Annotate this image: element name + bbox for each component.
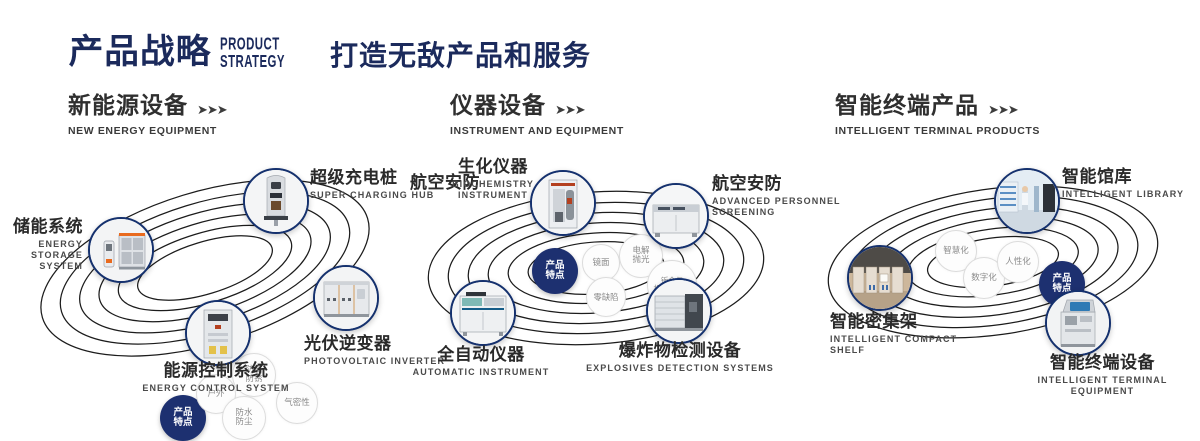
page-slogan: 打造无敌产品和服务 [330,34,591,74]
battery-cabinet-photo [90,219,152,281]
feature-bubble-core-line2: 特点 [545,271,564,281]
node-energy-storage-system[interactable] [88,217,154,283]
poster-canvas: 产品战略 PRODUCT STRATEGY 打造无敌产品和服务 新能源设备 ➤➤… [0,0,1200,422]
node-intelligent-compact-shelf[interactable] [847,245,913,311]
node-caption-en: AUTOMATIC INSTRUMENT [401,367,561,378]
feature-bubble-mirror-finish: 镜面 [582,244,620,282]
section-heading-instrument: 仪器设备 ➤➤➤ INSTRUMENT AND EQUIPMENT [450,95,624,137]
explosives-detector-photo [648,280,710,342]
node-caption-cn: 能源控制系统 [86,362,346,381]
section-heading-cn: 智能终端产品 [835,95,979,118]
chevron-triple-icon: ➤➤➤ [988,103,1018,118]
node-caption-intelligent-compact-shelf: 智能密集架 INTELLIGENT COMPACT SHELF [830,313,975,356]
node-explosives-detection[interactable] [646,278,712,344]
node-caption-automatic-instrument: 全自动仪器 AUTOMATIC INSTRUMENT [401,346,561,378]
feature-bubble-label: 人性化 [1005,258,1031,267]
section-heading-cn: 新能源设备 [68,95,188,118]
node-caption-en: EXPLOSIVES DETECTION SYSTEMS [585,363,775,374]
page-title-en-line1: PRODUCT [220,34,285,52]
smart-library-photo [996,170,1058,232]
inverter-cabinet-photo [315,267,377,329]
node-caption-cn: 全自动仪器 [401,346,561,365]
section-heading-en: INSTRUMENT AND EQUIPMENT [450,125,624,137]
page-title-cn: 产品战略 [69,35,212,69]
diagram-panel-intelligent-terminal: 智慧化 数字化 人性化 产品 特点 [800,150,1200,400]
section-heading-en: INTELLIGENT TERMINAL PRODUCTS [835,125,1040,137]
node-caption-cn: 智能密集架 [830,313,975,332]
page-title: 产品战略 PRODUCT STRATEGY [70,24,294,80]
feature-bubble-waterproof: 防水 防尘 [222,396,266,440]
node-automatic-instrument[interactable] [450,280,516,346]
node-photovoltaic-inverter[interactable] [313,265,379,331]
node-caption-biochemistry-instrument: 生化仪器 BIOCHEMISTRY INSTRUMENT [418,158,568,201]
node-caption-cn: 储能系统 [0,218,83,237]
feature-bubble-label: 气密性 [284,399,310,408]
automatic-instrument-photo [452,282,514,344]
node-intelligent-terminal-equipment[interactable] [1045,290,1111,356]
section-heading-en: NEW ENERGY EQUIPMENT [68,125,227,137]
terminal-kiosk-photo [1047,292,1109,354]
feature-bubble-label: 零缺陷 [594,293,619,302]
node-caption-en: BIOCHEMISTRY INSTRUMENT [418,179,568,202]
section-heading-cn: 仪器设备 [450,95,546,118]
node-caption-en: ENERGY STORAGE SYSTEM [0,239,83,273]
charging-pile-photo [245,170,307,232]
node-intelligent-library[interactable] [994,168,1060,234]
personnel-screening-photo [645,185,707,247]
node-caption-energy-control-system: 能源控制系统 ENERGY CONTROL SYSTEM [86,362,346,394]
node-personnel-screening[interactable] [643,183,709,249]
feature-bubble-core: 产品 特点 [532,248,578,294]
node-caption-energy-storage-system: 储能系统 ENERGY STORAGE SYSTEM [0,218,83,272]
compact-shelf-photo [849,247,911,309]
section-heading-new-energy: 新能源设备 ➤➤➤ NEW ENERGY EQUIPMENT [68,95,227,137]
node-energy-control-system[interactable] [185,300,251,366]
node-caption-cn: 生化仪器 [418,158,568,177]
control-cabinet-photo [187,302,249,364]
node-caption-en: ENERGY CONTROL SYSTEM [86,383,346,394]
feature-bubble-label: 智慧化 [943,247,969,256]
page-title-en-line2: STRATEGY [220,52,285,70]
node-caption-intelligent-terminal-equipment: 智能终端设备 INTELLIGENT TERMINAL EQUIPMENT [1005,354,1200,397]
node-caption-explosives-detection: 爆炸物检测设备 EXPLOSIVES DETECTION SYSTEMS [585,342,775,374]
chevron-triple-icon: ➤➤➤ [197,103,227,118]
diagram-panel-new-energy: 产品 特点 户外 防腐 防锈 气密性 防水 防尘 [0,150,400,400]
diagram-panel-instrument: 产品 特点 镜面 电解 抛光 钣金与 机加工结合 零缺陷 航空安防 [400,150,800,400]
feature-bubble-humanization: 人性化 [997,241,1039,283]
node-super-charging-hub[interactable] [243,168,309,234]
feature-bubble-label-line2: 防尘 [235,418,252,427]
feature-bubble-label: 数字化 [971,274,997,283]
page-title-en: PRODUCT STRATEGY [220,34,285,69]
node-caption-cn: 智能终端设备 [1005,354,1200,373]
feature-bubble-zero-defect: 零缺陷 [586,277,626,317]
node-caption-intelligent-library: 智能馆库 INTELLIGENT LIBRARY [1062,168,1200,200]
node-caption-en: INTELLIGENT COMPACT SHELF [830,334,975,357]
chevron-triple-icon: ➤➤➤ [555,103,585,118]
feature-bubble-label: 镜面 [592,259,609,268]
node-caption-cn: 爆炸物检测设备 [585,342,775,361]
feature-bubble-label-line2: 抛光 [632,256,649,265]
section-heading-intelligent-terminal: 智能终端产品 ➤➤➤ INTELLIGENT TERMINAL PRODUCTS [835,95,1040,137]
feature-bubble-core-line2: 特点 [173,418,192,428]
node-caption-en: INTELLIGENT LIBRARY [1062,189,1200,200]
node-caption-cn: 智能馆库 [1062,168,1200,187]
node-caption-en: INTELLIGENT TERMINAL EQUIPMENT [1005,375,1200,398]
